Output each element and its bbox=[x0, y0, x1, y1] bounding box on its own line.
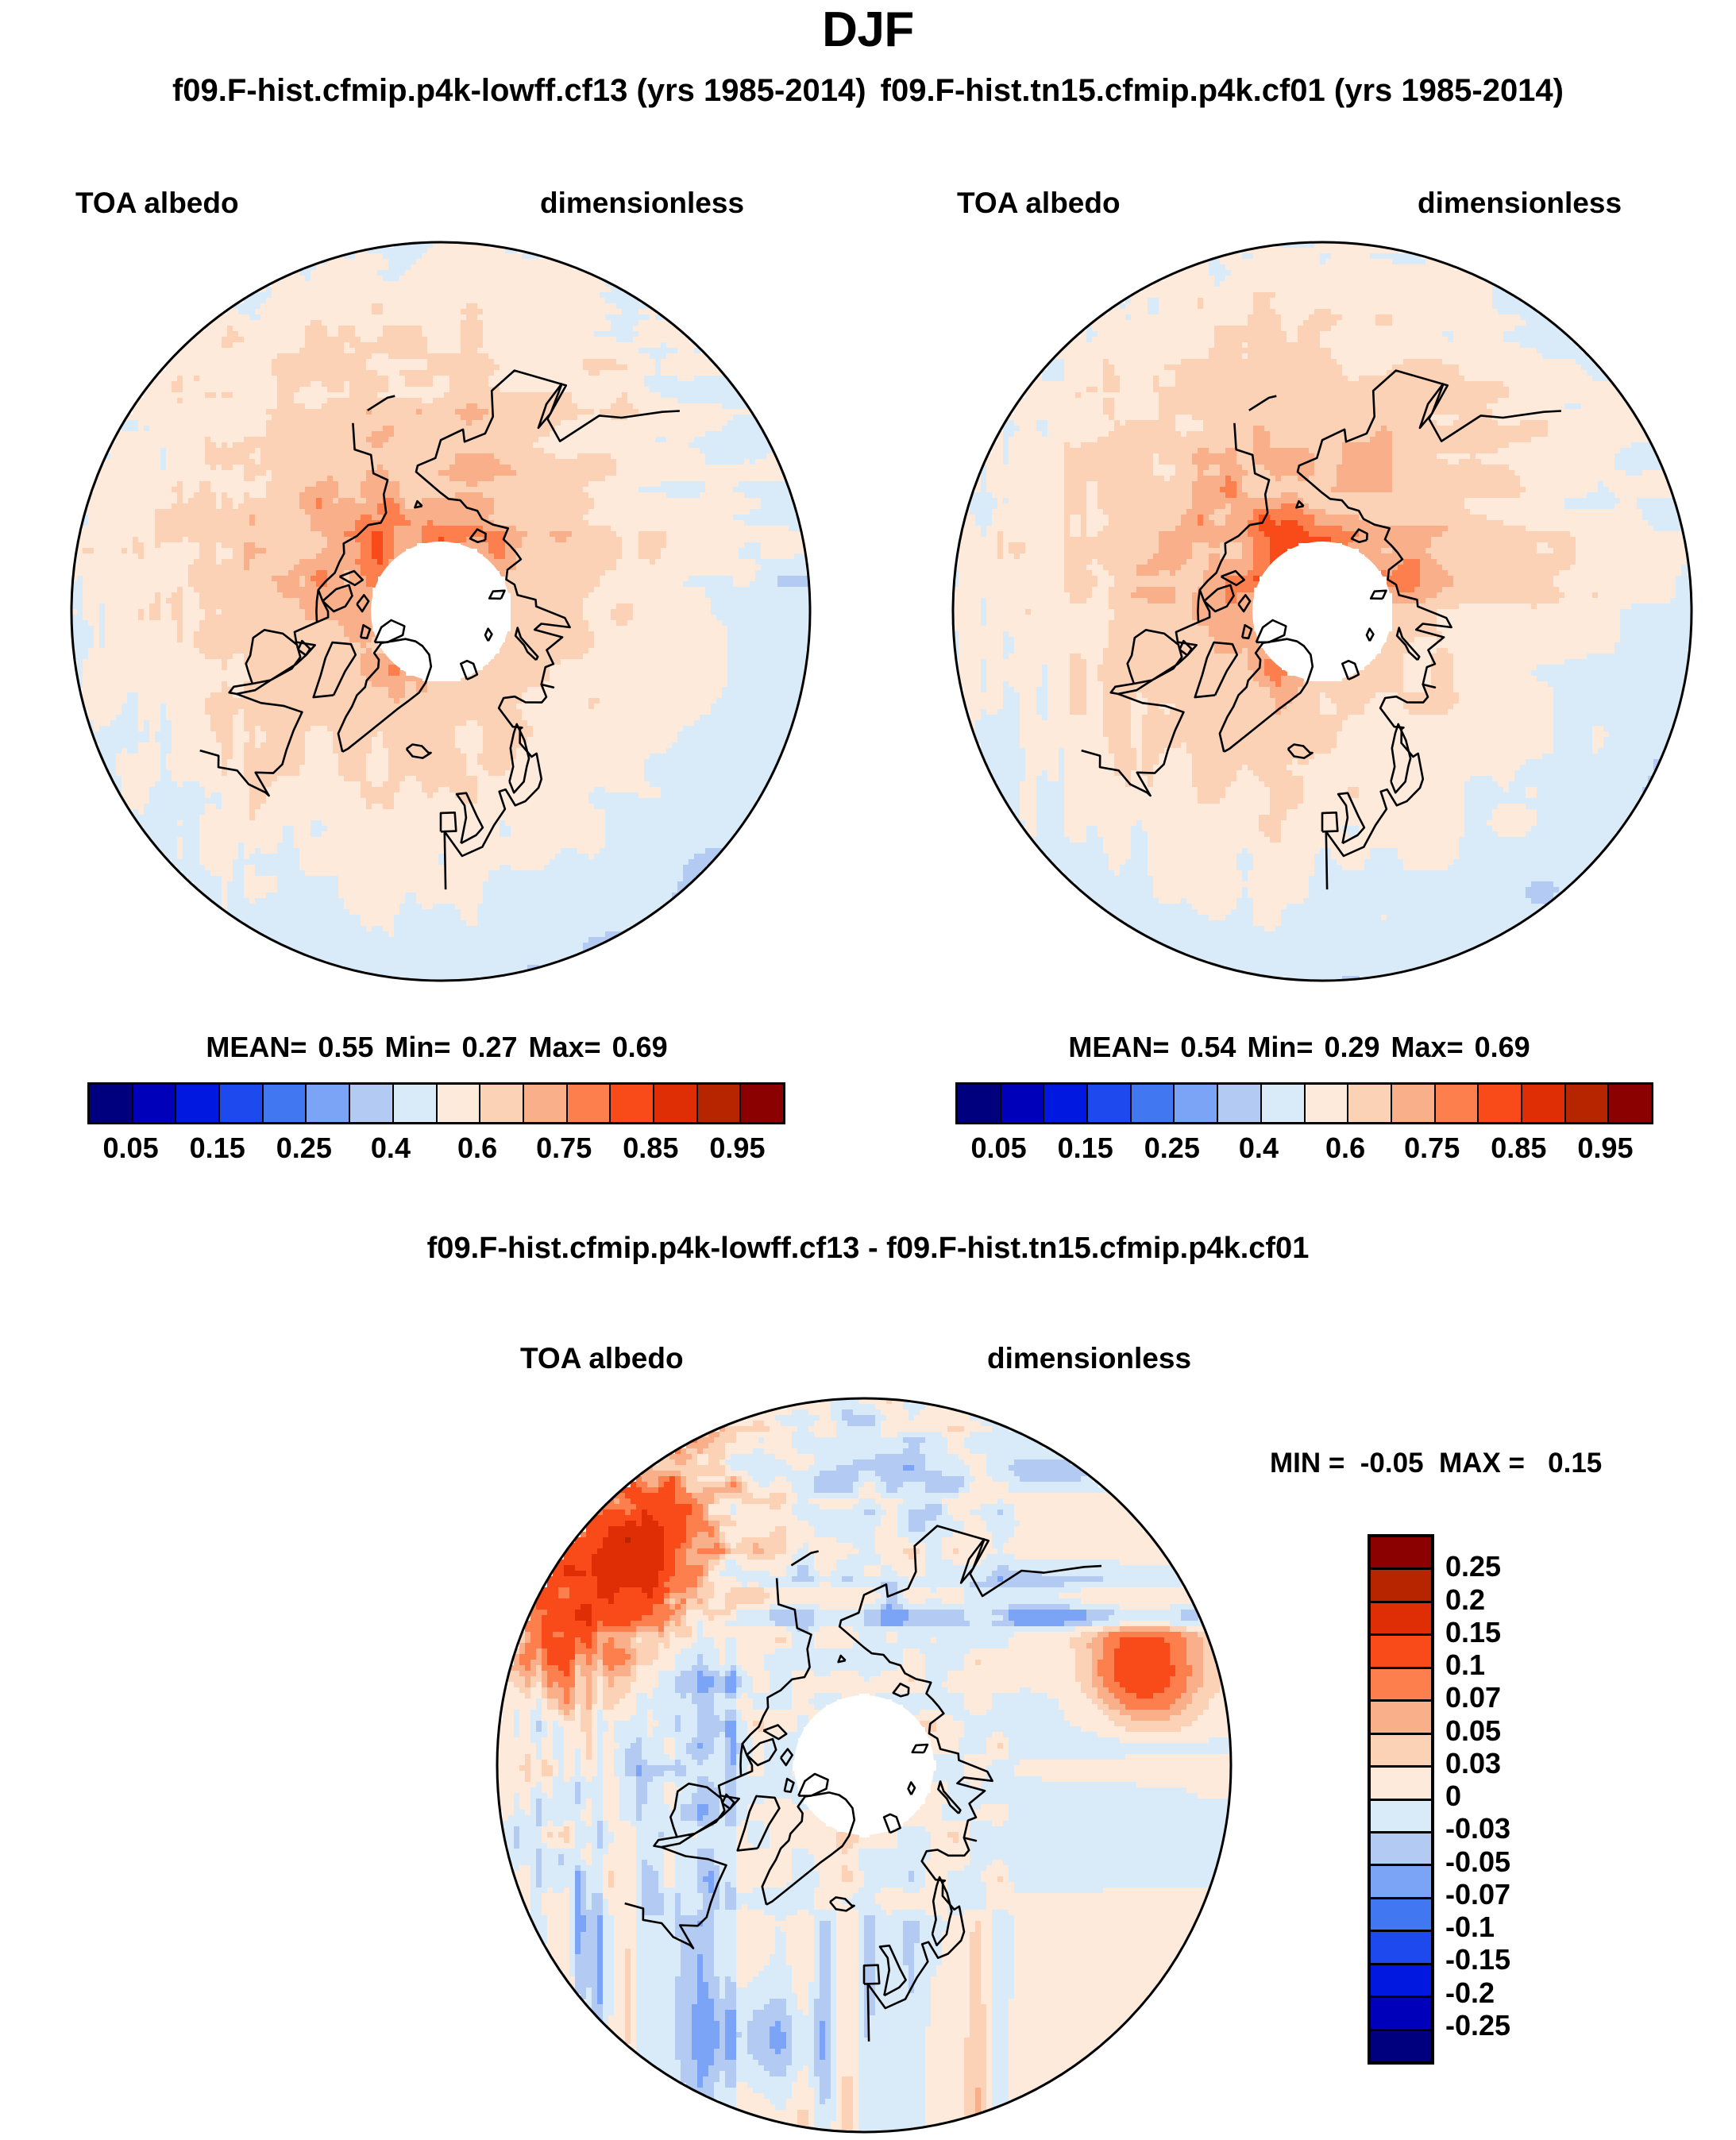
right-mean-label: MEAN= bbox=[1068, 1031, 1169, 1063]
colorbar-cell bbox=[1306, 1085, 1349, 1122]
colorbar-tick-label: 0.07 bbox=[1445, 1681, 1501, 1714]
colorbar-cell bbox=[1371, 1537, 1431, 1570]
colorbar-tick-label: 0.95 bbox=[709, 1132, 765, 1165]
colorbar-cell bbox=[1371, 2031, 1431, 2061]
colorbar-cell bbox=[1044, 1085, 1088, 1122]
left-panel-stats: MEAN=0.55Min=0.27Max=0.69 bbox=[0, 1031, 874, 1064]
diff-max-label: MAX = bbox=[1439, 1448, 1525, 1479]
colorbar-cell bbox=[1371, 1669, 1431, 1702]
diff-min-label: MIN = bbox=[1270, 1448, 1344, 1479]
right-min-label: Min= bbox=[1247, 1031, 1313, 1063]
right-colorbar: 0.050.150.250.40.60.750.850.95 bbox=[955, 1082, 1649, 1124]
colorbar-tick-label: -0.1 bbox=[1445, 1911, 1495, 1944]
colorbar-cell bbox=[1371, 1570, 1431, 1602]
colorbar-tick-label: -0.05 bbox=[1445, 1845, 1510, 1879]
colorbar-cell bbox=[1371, 1932, 1431, 1965]
colorbar-cell bbox=[1371, 1998, 1431, 2030]
colorbar-cell bbox=[1566, 1085, 1610, 1122]
left-panel-units-label: dimensionless bbox=[540, 187, 744, 220]
colorbar-cell bbox=[90, 1085, 133, 1122]
right-polar-map bbox=[925, 238, 1719, 1001]
colorbar-tick-label: 0.05 bbox=[103, 1132, 159, 1165]
difference-colorbar-tick-labels: 0.250.20.150.10.070.050.030-0.03-0.05-0.… bbox=[1445, 1534, 1652, 2058]
colorbar-cell bbox=[480, 1085, 524, 1122]
case-subtitle: f09.F-hist.cfmip.p4k-lowff.cf13 (yrs 198… bbox=[0, 73, 1736, 109]
colorbar-cell bbox=[438, 1085, 481, 1122]
left-min-label: Min= bbox=[384, 1031, 450, 1063]
left-max-label: Max= bbox=[529, 1031, 601, 1063]
left-polar-map bbox=[44, 238, 838, 1001]
colorbar-cell bbox=[1371, 1768, 1431, 1800]
colorbar-tick-label: 0.15 bbox=[190, 1132, 245, 1165]
colorbar-tick-label: -0.25 bbox=[1445, 2009, 1510, 2042]
colorbar-tick-label: 0.6 bbox=[1325, 1132, 1365, 1165]
right-panel-units-label: dimensionless bbox=[1418, 187, 1622, 220]
colorbar-tick-label: 0.75 bbox=[1404, 1132, 1460, 1165]
colorbar-cell bbox=[1262, 1085, 1306, 1122]
right-colorbar-cells[interactable] bbox=[955, 1082, 1653, 1124]
colorbar-cell bbox=[176, 1085, 220, 1122]
diff-max-value: 0.15 bbox=[1548, 1448, 1602, 1479]
colorbar-cell bbox=[1175, 1085, 1218, 1122]
case-a-label: f09.F-hist.cfmip.p4k-lowff.cf13 (yrs 198… bbox=[172, 73, 866, 108]
colorbar-tick-label: 0.95 bbox=[1577, 1132, 1633, 1165]
right-max-value: 0.69 bbox=[1475, 1031, 1530, 1063]
colorbar-cell bbox=[1371, 1965, 1431, 1998]
colorbar-tick-label: 0.05 bbox=[971, 1132, 1027, 1165]
left-colorbar-tick-labels: 0.050.150.250.40.60.750.850.95 bbox=[87, 1132, 781, 1170]
colorbar-cell bbox=[307, 1085, 350, 1122]
colorbar-tick-label: 0.15 bbox=[1445, 1616, 1501, 1649]
colorbar-cell bbox=[1371, 1801, 1431, 1833]
colorbar-tick-label: -0.15 bbox=[1445, 1943, 1510, 1976]
difference-title: f09.F-hist.cfmip.p4k-lowff.cf13 - f09.F-… bbox=[0, 1232, 1736, 1266]
colorbar-cell bbox=[1371, 1603, 1431, 1636]
left-panel-variable-label: TOA albedo bbox=[75, 187, 239, 220]
colorbar-tick-label: 0.2 bbox=[1445, 1583, 1485, 1617]
colorbar-cell bbox=[1132, 1085, 1175, 1122]
colorbar-tick-label: 0.6 bbox=[457, 1132, 497, 1165]
colorbar-cell bbox=[1371, 1636, 1431, 1668]
colorbar-cell bbox=[1348, 1085, 1392, 1122]
left-mean-label: MEAN= bbox=[206, 1031, 307, 1063]
colorbar-cell bbox=[1479, 1085, 1522, 1122]
colorbar-tick-label: 0.05 bbox=[1445, 1714, 1501, 1748]
difference-polar-map bbox=[484, 1394, 1255, 2140]
colorbar-cell bbox=[1001, 1085, 1045, 1122]
right-map-svg bbox=[925, 238, 1719, 1001]
colorbar-tick-label: 0.03 bbox=[1445, 1747, 1501, 1780]
colorbar-tick-label: 0.85 bbox=[1491, 1132, 1546, 1165]
difference-map-svg bbox=[484, 1394, 1255, 2140]
colorbar-tick-label: 0.4 bbox=[371, 1132, 411, 1165]
colorbar-cell bbox=[568, 1085, 611, 1122]
right-min-value: 0.29 bbox=[1324, 1031, 1379, 1063]
colorbar-cell bbox=[958, 1085, 1001, 1122]
colorbar-cell bbox=[394, 1085, 438, 1122]
case-b-label: f09.F-hist.tn15.cfmip.p4k.cf01 (yrs 1985… bbox=[881, 73, 1564, 108]
colorbar-cell bbox=[1371, 1735, 1431, 1768]
left-colorbar: 0.050.150.250.40.60.750.850.95 bbox=[87, 1082, 781, 1124]
colorbar-tick-label: 0.25 bbox=[1445, 1550, 1501, 1583]
colorbar-tick-label: -0.2 bbox=[1445, 1976, 1495, 2010]
left-min-value: 0.27 bbox=[461, 1031, 517, 1063]
colorbar-cell bbox=[1392, 1085, 1436, 1122]
colorbar-cell bbox=[1522, 1085, 1566, 1122]
colorbar-tick-label: 0.1 bbox=[1445, 1648, 1485, 1682]
colorbar-cell bbox=[1371, 1702, 1431, 1734]
colorbar-cell bbox=[220, 1085, 264, 1122]
colorbar-cell bbox=[350, 1085, 394, 1122]
left-colorbar-cells[interactable] bbox=[87, 1082, 785, 1124]
colorbar-tick-label: 0.85 bbox=[623, 1132, 678, 1165]
page-title: DJF bbox=[0, 2, 1736, 58]
right-panel-variable-label: TOA albedo bbox=[957, 187, 1121, 220]
left-max-value: 0.69 bbox=[612, 1031, 668, 1063]
colorbar-cell bbox=[1609, 1085, 1651, 1122]
diff-panel-units-label: dimensionless bbox=[987, 1342, 1191, 1375]
right-mean-value: 0.54 bbox=[1180, 1031, 1236, 1063]
colorbar-cell bbox=[524, 1085, 568, 1122]
colorbar-tick-label: 0 bbox=[1445, 1779, 1461, 1813]
colorbar-cell bbox=[698, 1085, 742, 1122]
diff-min-value: -0.05 bbox=[1360, 1448, 1424, 1479]
colorbar-tick-label: 0.25 bbox=[276, 1132, 332, 1165]
colorbar-cell bbox=[1371, 1866, 1431, 1899]
colorbar-cell bbox=[1436, 1085, 1479, 1122]
right-max-label: Max= bbox=[1391, 1031, 1464, 1063]
colorbar-cell bbox=[1218, 1085, 1262, 1122]
colorbar-tick-label: -0.03 bbox=[1445, 1812, 1510, 1845]
colorbar-cell bbox=[1088, 1085, 1132, 1122]
diff-panel-variable-label: TOA albedo bbox=[520, 1342, 684, 1375]
colorbar-tick-label: 0.75 bbox=[536, 1132, 592, 1165]
colorbar-cell bbox=[1371, 1833, 1431, 1866]
colorbar-cell bbox=[264, 1085, 307, 1122]
colorbar-tick-label: 0.25 bbox=[1144, 1132, 1200, 1165]
colorbar-tick-label: -0.07 bbox=[1445, 1878, 1510, 1911]
colorbar-cell bbox=[741, 1085, 783, 1122]
difference-colorbar-cells[interactable] bbox=[1368, 1534, 1434, 2065]
colorbar-tick-label: 0.15 bbox=[1058, 1132, 1113, 1165]
colorbar-cell bbox=[1371, 1899, 1431, 1932]
right-panel-stats: MEAN=0.54Min=0.29Max=0.69 bbox=[862, 1031, 1736, 1064]
colorbar-cell bbox=[654, 1085, 698, 1122]
left-mean-value: 0.55 bbox=[318, 1031, 373, 1063]
right-colorbar-tick-labels: 0.050.150.250.40.60.750.850.95 bbox=[955, 1132, 1649, 1170]
difference-minmax-annotation: MIN = -0.05 MAX = 0.15 bbox=[1270, 1448, 1602, 1479]
colorbar-cell bbox=[133, 1085, 177, 1122]
colorbar-cell bbox=[611, 1085, 654, 1122]
colorbar-tick-label: 0.4 bbox=[1239, 1132, 1279, 1165]
left-map-svg bbox=[44, 238, 838, 1001]
